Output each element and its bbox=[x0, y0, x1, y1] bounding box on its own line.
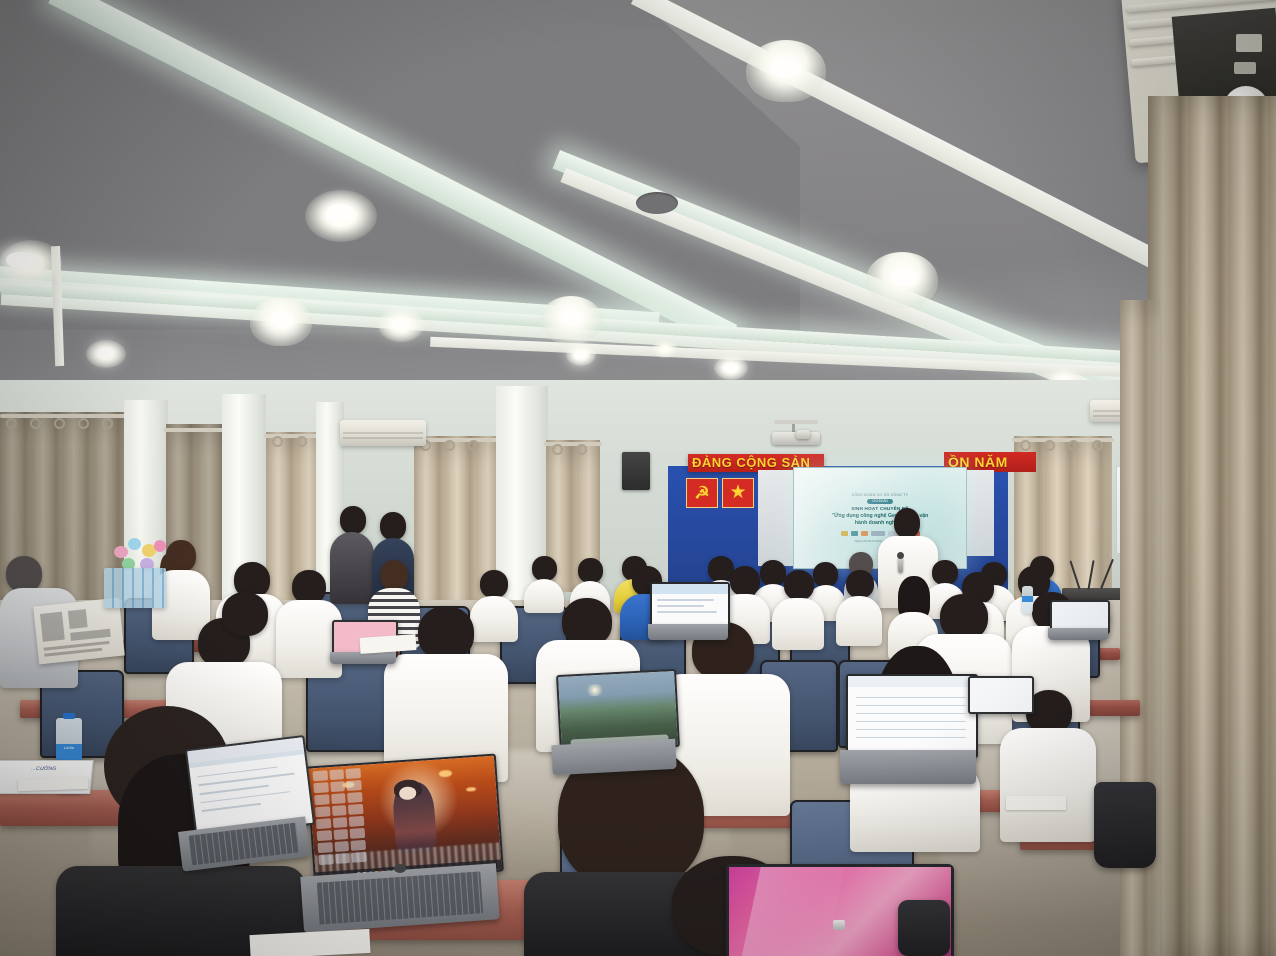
laptop-far-right[interactable] bbox=[1048, 600, 1108, 640]
head bbox=[380, 512, 406, 540]
attendee bbox=[836, 570, 882, 644]
backpack bbox=[898, 900, 950, 956]
laptop-row4-right[interactable] bbox=[966, 676, 1032, 720]
laptop-base bbox=[551, 739, 676, 775]
laptop-base bbox=[1048, 628, 1108, 640]
ceiling-light bbox=[652, 340, 678, 358]
laptop-lid bbox=[846, 674, 978, 758]
laptop-screen[interactable] bbox=[970, 678, 1032, 712]
app-window bbox=[652, 584, 728, 628]
water-bottle[interactable] bbox=[1022, 586, 1033, 614]
laptop-spreadsheet[interactable] bbox=[840, 674, 976, 786]
seminar-room-photo: ☭ ★ ĐẢNG CỘNG SẢN ỒN NĂM CÔNG ĐOÀN CƠ SỞ… bbox=[0, 0, 1276, 956]
head bbox=[418, 606, 474, 660]
name-placard-text: ...CƯỜNG bbox=[0, 761, 93, 777]
ac-panel bbox=[1234, 62, 1256, 74]
laptop-lid bbox=[650, 582, 730, 630]
bottle-label bbox=[1022, 596, 1033, 602]
laptop-base bbox=[330, 652, 396, 664]
torso bbox=[1000, 728, 1096, 842]
bottle-brand: LaVie bbox=[56, 744, 82, 751]
presenter-head bbox=[894, 508, 920, 538]
laptop-blue-window[interactable] bbox=[648, 582, 728, 640]
star-icon: ★ bbox=[729, 483, 746, 502]
handout bbox=[18, 777, 88, 791]
laptop-screen[interactable] bbox=[848, 676, 976, 756]
hammer-sickle-icon: ☭ bbox=[694, 485, 709, 502]
slide-org-line: CÔNG ĐOÀN CƠ SỞ CÔNG TY bbox=[852, 493, 909, 497]
head bbox=[222, 592, 268, 636]
laptop-screen[interactable] bbox=[652, 584, 728, 628]
head bbox=[6, 556, 42, 592]
laptop-base bbox=[840, 750, 976, 784]
head bbox=[380, 560, 408, 590]
bottle-label: LaVie bbox=[56, 744, 82, 761]
bottle-cap bbox=[63, 713, 74, 719]
webcam-preview bbox=[833, 920, 845, 930]
spreadsheet-window bbox=[848, 676, 976, 756]
laptop-screen[interactable]: 14:32 bbox=[308, 756, 501, 883]
head bbox=[340, 506, 366, 534]
microphone-head bbox=[897, 552, 904, 559]
laptop-base bbox=[648, 624, 728, 640]
ac-panel bbox=[1236, 34, 1262, 52]
torso bbox=[836, 596, 882, 646]
laptop-keyboard[interactable] bbox=[316, 871, 483, 925]
vietnam-flag: ★ bbox=[722, 478, 754, 508]
laptop-photo[interactable] bbox=[552, 672, 676, 776]
attendee bbox=[384, 606, 508, 778]
slide-pill-label: CHI ĐOÀN bbox=[867, 499, 893, 504]
hp-laptop-anime-wallpaper[interactable]: 14:32 bbox=[302, 760, 498, 926]
head bbox=[784, 570, 814, 600]
handout bbox=[1006, 796, 1066, 810]
backpack bbox=[1094, 782, 1156, 868]
anime-wallpaper: 14:32 bbox=[308, 756, 501, 883]
party-emblem: ☭ bbox=[686, 478, 718, 508]
ceiling-vent bbox=[636, 192, 678, 214]
head bbox=[532, 556, 557, 581]
wall-speaker bbox=[622, 452, 650, 490]
laptop-keyboard[interactable] bbox=[189, 822, 299, 865]
ceiling-projector bbox=[766, 420, 826, 450]
head bbox=[578, 558, 603, 583]
hp-logo bbox=[394, 864, 406, 873]
head bbox=[730, 566, 760, 596]
wall-panel-left bbox=[758, 470, 794, 566]
head bbox=[292, 570, 326, 604]
laptop-lid bbox=[968, 676, 1034, 714]
wall-ac-left bbox=[340, 420, 426, 446]
bottled-water-stack bbox=[104, 568, 166, 608]
desktop-icons[interactable] bbox=[312, 768, 367, 869]
head bbox=[846, 570, 874, 598]
head bbox=[480, 570, 508, 598]
curtain-right-foreground bbox=[1148, 96, 1276, 956]
attendee bbox=[196, 592, 296, 700]
head bbox=[562, 598, 612, 646]
laptop-document[interactable] bbox=[180, 742, 308, 864]
